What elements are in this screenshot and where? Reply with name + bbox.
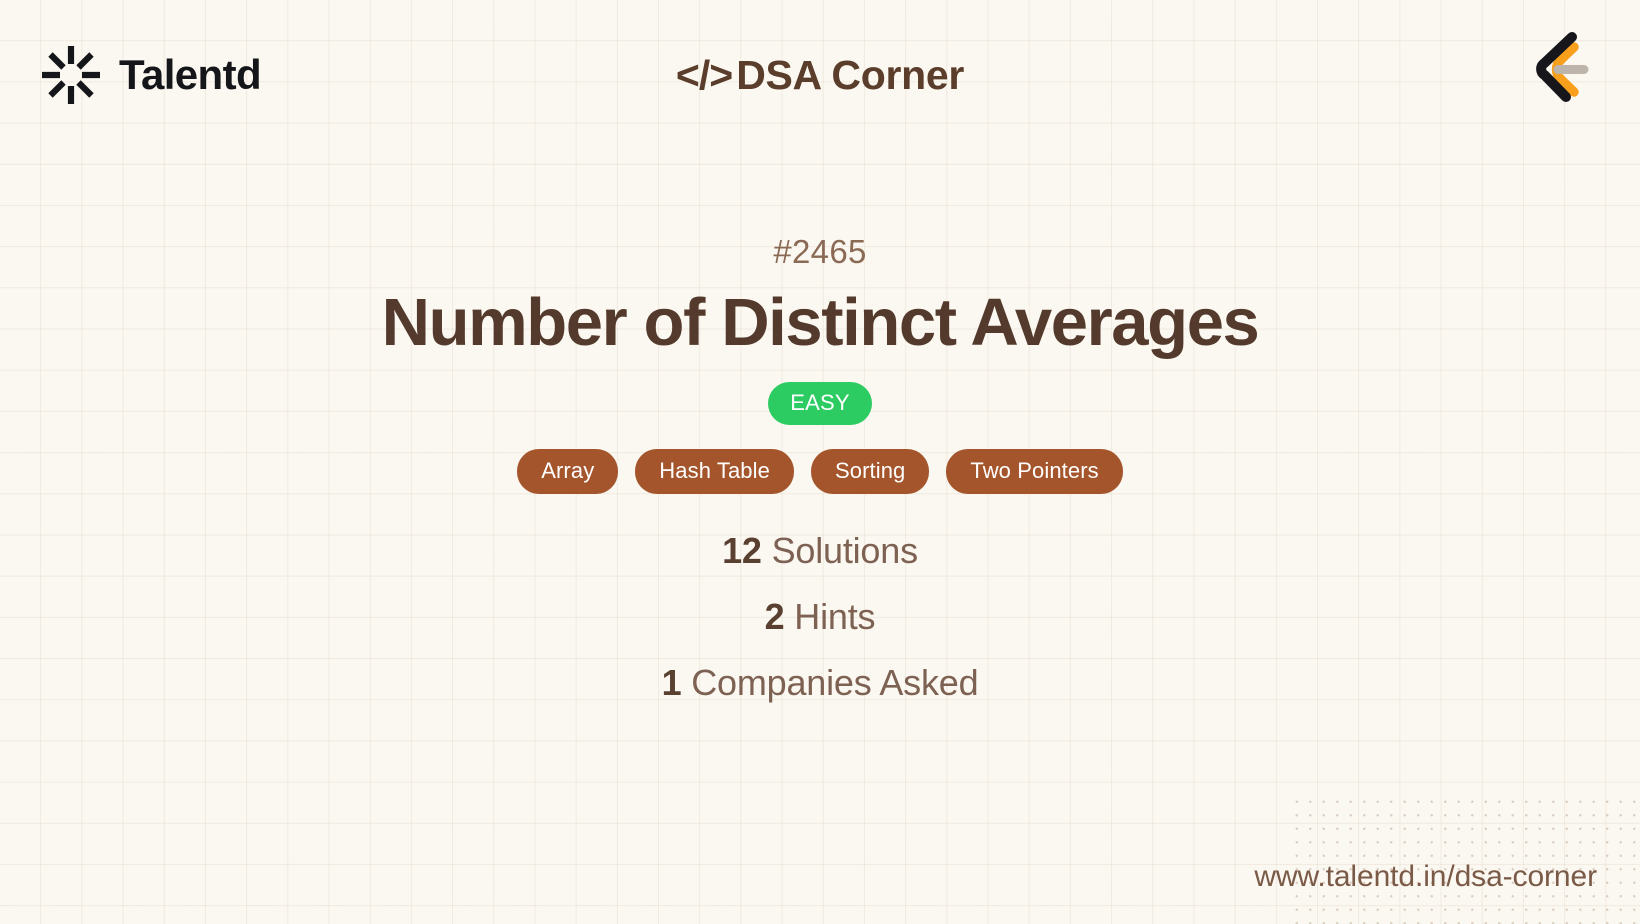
topic-tag[interactable]: Array	[517, 449, 618, 494]
topic-tag[interactable]: Two Pointers	[946, 449, 1122, 494]
topic-tag[interactable]: Hash Table	[635, 449, 794, 494]
page-title-text: DSA Corner	[736, 52, 964, 98]
stat-value: 1	[662, 662, 682, 703]
problem-number: #2465	[773, 233, 866, 271]
stat-value: 2	[765, 596, 785, 637]
problem-stats: 12 Solutions2 Hints1 Companies Asked	[662, 533, 979, 701]
stat-row: 12 Solutions	[722, 533, 918, 569]
topic-tag[interactable]: Sorting	[811, 449, 929, 494]
stat-label: Hints	[784, 596, 875, 637]
stat-label: Companies Asked	[681, 662, 978, 703]
stat-row: 2 Hints	[765, 599, 876, 635]
page-footer: www.talentd.in/dsa-corner	[1254, 860, 1597, 894]
stat-row: 1 Companies Asked	[662, 665, 979, 701]
topic-tag-list: ArrayHash TableSortingTwo Pointers	[517, 449, 1123, 494]
difficulty-badge: EASY	[768, 382, 872, 424]
stat-value: 12	[722, 530, 762, 571]
page-title: </>DSA Corner	[0, 52, 1640, 99]
footer-url[interactable]: www.talentd.in/dsa-corner	[1254, 860, 1597, 893]
leetcode-logo-icon	[1514, 25, 1598, 109]
stat-label: Solutions	[762, 530, 918, 571]
code-tag-icon: </>	[676, 52, 732, 98]
problem-card: #2465 Number of Distinct Averages EASY A…	[0, 156, 1640, 846]
problem-title: Number of Distinct Averages	[382, 287, 1259, 359]
page-header: Talentd </>DSA Corner	[0, 0, 1640, 156]
